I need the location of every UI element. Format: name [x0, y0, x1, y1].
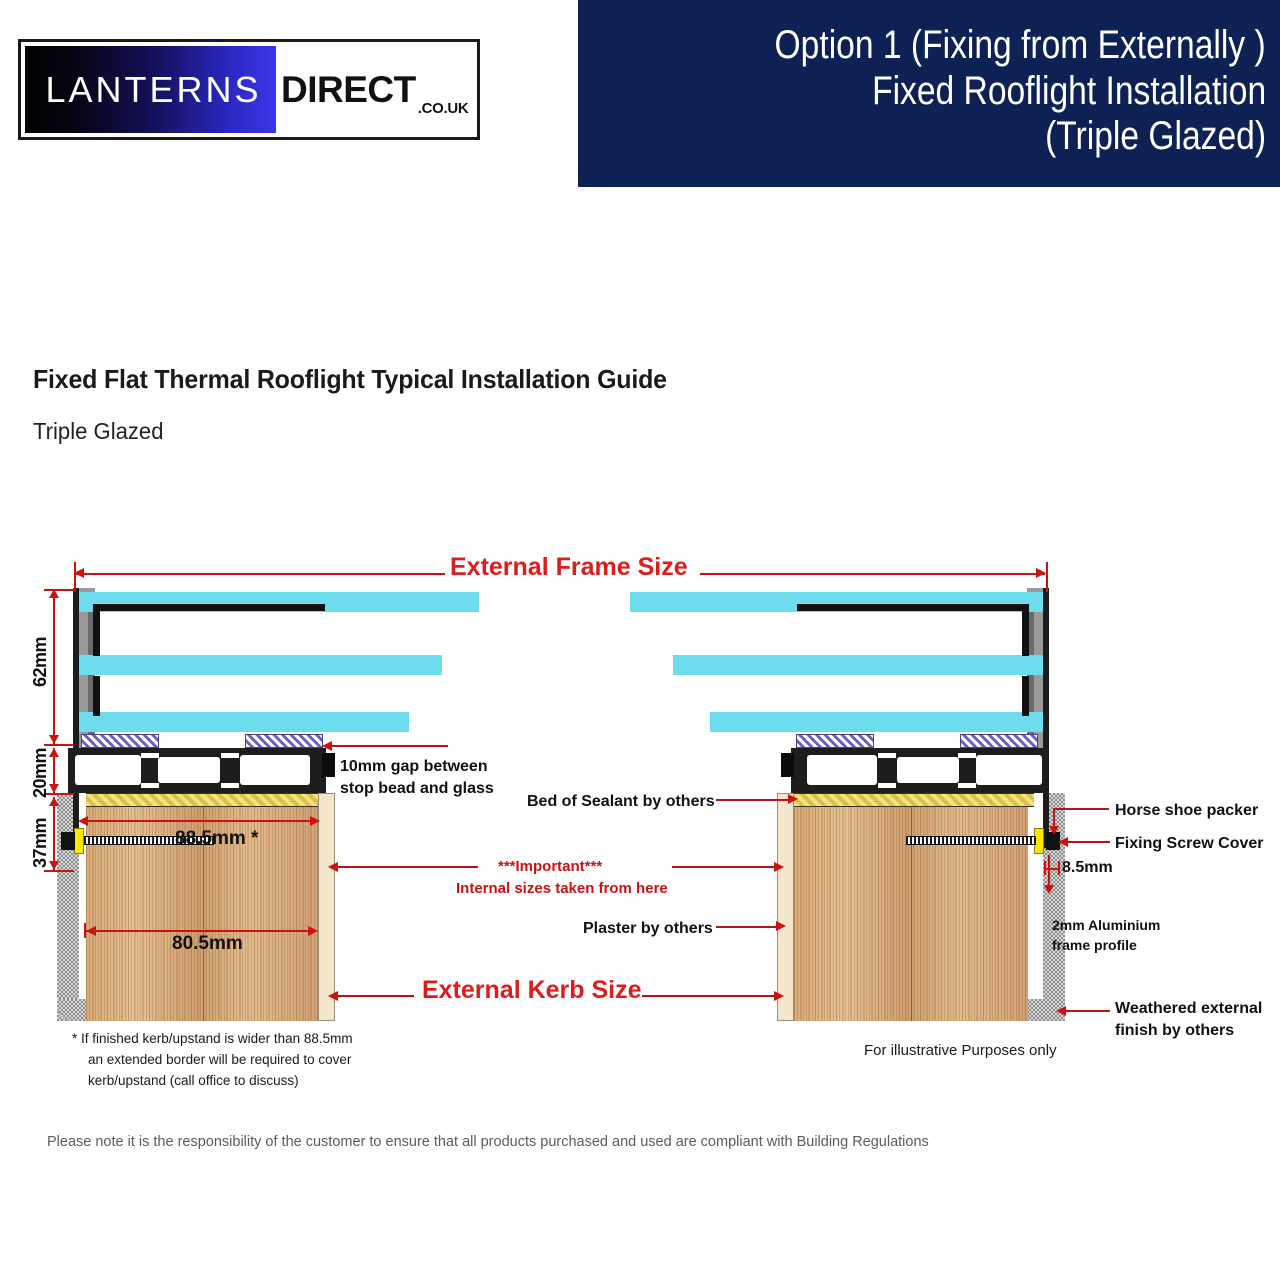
dim-88-5mm-line	[86, 820, 314, 822]
dim-8-5mm-tick-left	[1044, 861, 1046, 875]
kerb-size-leader-left	[336, 995, 414, 997]
extrusion-web-right-lower	[221, 783, 239, 788]
glazing-tape-left-inner	[245, 734, 323, 748]
kerb-footnote-line-2: an extended border will be required to c…	[72, 1050, 353, 1071]
glass-spacer-upper-left	[93, 604, 325, 611]
dim-62mm-tick-top	[44, 589, 74, 591]
glass-spacer-vertical-lower-left	[93, 676, 100, 716]
glass-spacer-upper-right	[797, 604, 1029, 611]
alu-profile-annotation: 2mm Aluminium frame profile	[1052, 916, 1160, 955]
external-frame-size-label: External Frame Size	[450, 553, 688, 582]
building-regulations-disclaimer: Please note it is the responsibility of …	[47, 1134, 929, 1150]
extrusion-chamber-left-2	[158, 757, 220, 783]
stop-bead-arrow	[322, 741, 332, 751]
glass-pane-inner-left	[79, 712, 409, 732]
extrusion-web-r-right-lower	[958, 783, 976, 788]
extrusion-web-right-upper	[221, 753, 239, 758]
dim-88-5mm-arrow-right	[310, 816, 320, 826]
stop-bead-annotation-line-2: stop bead and glass	[340, 778, 494, 800]
extrusion-chamber-left-1	[75, 755, 141, 785]
horse-shoe-arrow	[1049, 826, 1059, 835]
dim-37mm-label: 37mm	[30, 818, 51, 868]
glass-pane-inner-right	[710, 712, 1043, 732]
plaster-annotation: Plaster by others	[583, 918, 713, 940]
kerb-size-arrow-right	[774, 991, 784, 1001]
alu-profile-arrow	[1044, 885, 1054, 894]
frame-extension-line-right	[1046, 562, 1048, 592]
frame-size-dim-line-left	[76, 573, 445, 575]
stop-bead-right	[781, 753, 794, 777]
plaster-arrow	[776, 921, 786, 931]
illustrative-purposes-note: For illustrative Purposes only	[864, 1042, 1057, 1059]
dim-8-5mm-label: 8.5mm	[1062, 859, 1113, 877]
dim-8-5mm-tick-right	[1058, 861, 1060, 875]
plaster-layer-right	[777, 793, 794, 1021]
extrusion-web-left-lower	[141, 783, 159, 788]
fixing-screw-cover-left	[61, 832, 75, 850]
stop-bead-annotation: 10mm gap between stop bead and glass	[340, 756, 494, 799]
extrusion-web-r-left-lower	[878, 783, 896, 788]
extrusion-web-r-left-upper	[878, 753, 896, 758]
glazing-tape-left-outer	[81, 734, 159, 748]
kerb-footnote: * If finished kerb/upstand is wider than…	[72, 1029, 353, 1092]
kerb-size-leader-right	[642, 995, 780, 997]
weathered-leader	[1064, 1010, 1110, 1012]
frame-size-arrow-right	[1036, 568, 1046, 578]
extrusion-chamber-right-3	[976, 755, 1042, 785]
important-arrow-left	[328, 862, 338, 872]
sealant-bed-left	[86, 793, 322, 807]
extrusion-chamber-left-3	[240, 755, 310, 785]
dim-37mm-line	[53, 797, 55, 870]
dim-88-5mm-label: 88.5mm *	[175, 828, 258, 850]
stop-bead-left	[322, 753, 335, 777]
plaster-layer-left	[318, 793, 335, 1021]
screw-cover-leader	[1066, 841, 1110, 843]
weathered-line-2: finish by others	[1115, 1020, 1262, 1042]
stop-bead-annotation-line-1: 10mm gap between	[340, 756, 494, 778]
extrusion-chamber-right-2	[897, 757, 959, 783]
glass-pane-middle-left	[79, 655, 442, 675]
sealant-bed-right	[794, 793, 1034, 807]
important-leader-right	[672, 866, 780, 868]
alu-profile-line-2: frame profile	[1052, 936, 1160, 956]
dim-8-5mm-line	[1044, 868, 1058, 870]
extrusion-web-left-upper	[141, 753, 159, 758]
dim-37mm-tick-bottom	[44, 870, 74, 872]
kerb-footnote-line-1: * If finished kerb/upstand is wider than…	[72, 1029, 353, 1050]
fixing-screw-right	[906, 836, 1036, 845]
important-note-line-1: ***Important***	[498, 858, 602, 875]
plaster-leader	[716, 926, 782, 928]
dim-62mm-arrow-bottom	[49, 735, 59, 744]
weathered-arrow	[1056, 1006, 1066, 1016]
alu-outer-skin-right	[1043, 588, 1049, 848]
dim-80-5mm-arrow-right	[308, 926, 318, 936]
glass-spacer-vertical-upper-left	[93, 604, 100, 656]
dim-62mm-line	[53, 589, 55, 744]
frame-size-arrow-left	[74, 568, 84, 578]
alu-profile-leader	[1048, 855, 1050, 889]
alu-profile-line-1: 2mm Aluminium	[1052, 916, 1160, 936]
extrusion-chamber-right-1	[807, 755, 877, 785]
dim-62mm-tick-bottom	[44, 744, 74, 746]
kerb-footnote-line-3: kerb/upstand (call office to discuss)	[72, 1071, 353, 1092]
external-kerb-size-label: External Kerb Size	[422, 976, 642, 1005]
frame-size-dim-line-right	[700, 573, 1045, 575]
glass-pane-middle-right	[673, 655, 1043, 675]
glass-spacer-vertical-lower-right	[1022, 676, 1029, 716]
sealant-leader	[716, 799, 794, 801]
horse-shoe-leader	[1053, 808, 1109, 810]
horse-shoe-annotation: Horse shoe packer	[1115, 800, 1258, 822]
dim-37mm-arrow-top	[49, 797, 59, 806]
screw-cover-arrow	[1058, 837, 1068, 847]
screw-cover-annotation: Fixing Screw Cover	[1115, 833, 1264, 855]
horse-shoe-packer-left	[74, 828, 84, 854]
glazing-tape-right-inner	[796, 734, 874, 748]
glass-spacer-vertical-upper-right	[1022, 604, 1029, 656]
extrusion-web-r-right-upper	[958, 753, 976, 758]
dim-80-5mm-line	[84, 930, 314, 932]
dim-20mm-label: 20mm	[30, 748, 51, 798]
installation-cross-section-diagram: External Frame Size 62mm 20mm 37mm 88.5m…	[0, 0, 1280, 1280]
important-arrow-right	[774, 862, 784, 872]
stop-bead-leader	[328, 745, 448, 747]
dim-88-5mm-arrow-left	[78, 816, 88, 826]
sealant-annotation: Bed of Sealant by others	[527, 791, 715, 813]
kerb-size-arrow-left	[328, 991, 338, 1001]
dim-62mm-label: 62mm	[30, 637, 51, 687]
weathered-line-1: Weathered external	[1115, 998, 1262, 1020]
weathered-annotation: Weathered external finish by others	[1115, 998, 1262, 1041]
important-note-line-2: Internal sizes taken from here	[456, 880, 668, 897]
glazing-tape-right-outer	[960, 734, 1038, 748]
important-leader-left	[336, 866, 478, 868]
page-root: LANTERNS DIRECT .CO.UK Option 1 (Fixing …	[0, 0, 1280, 1280]
dim-80-5mm-label: 80.5mm	[172, 933, 243, 955]
dim-80-5mm-arrow-left	[86, 926, 96, 936]
sealant-arrow	[788, 794, 798, 804]
